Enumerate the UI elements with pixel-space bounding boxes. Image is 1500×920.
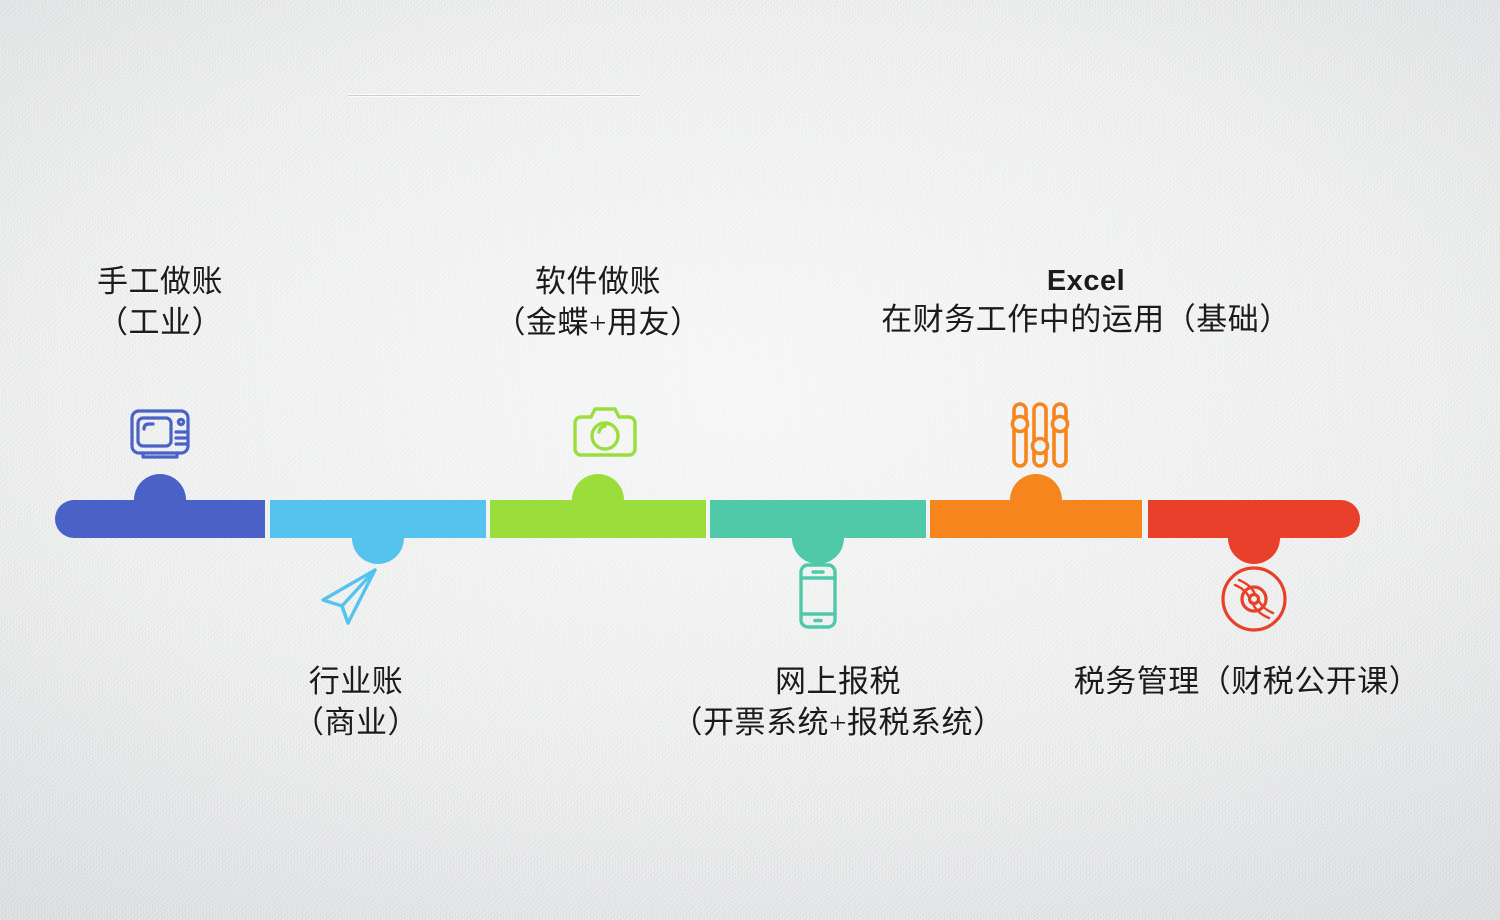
label-line-latin: Excel	[836, 262, 1336, 300]
segment-body	[930, 500, 1142, 538]
label-line: 行业账	[248, 662, 464, 703]
label-line: （开票系统+报税系统）	[648, 703, 1028, 744]
label-line: （工业）	[30, 303, 290, 344]
label-line: 手工做账	[30, 262, 290, 303]
segment-node-bump	[134, 474, 186, 500]
segment-body	[490, 500, 706, 538]
camera-icon	[566, 396, 644, 474]
label-excel-in-finance: Excel 在财务工作中的运用（基础）	[836, 262, 1336, 341]
label-line: （金蝶+用友）	[460, 303, 736, 344]
timeline-segment-manual-bookkeeping[interactable]	[55, 500, 265, 538]
timeline-segment-software-bookkeeping[interactable]	[490, 500, 706, 538]
timeline-segment-industry-ledger[interactable]	[270, 500, 486, 538]
segment-body	[55, 500, 265, 538]
label-software-bookkeeping: 软件做账 （金蝶+用友）	[460, 262, 736, 344]
tv-icon	[121, 396, 199, 474]
label-line: （商业）	[248, 703, 464, 744]
timeline-segment-tax-management[interactable]	[1148, 500, 1360, 538]
vinyl-disc-icon	[1215, 560, 1293, 638]
paper-plane-icon	[311, 557, 389, 635]
segment-body	[710, 500, 926, 538]
segment-node-bump	[572, 474, 624, 500]
label-line: 在财务工作中的运用（基础）	[836, 300, 1336, 341]
label-line: 税务管理（财税公开课）	[1034, 662, 1460, 703]
slide-canvas: 手工做账 （工业） 行业账 （商业）	[0, 0, 1500, 920]
segment-body	[1148, 500, 1360, 538]
segment-body	[270, 500, 486, 538]
label-line: 网上报税	[648, 662, 1028, 703]
label-manual-bookkeeping: 手工做账 （工业）	[30, 262, 290, 344]
label-line: 软件做账	[460, 262, 736, 303]
sliders-icon	[1001, 398, 1079, 476]
timeline-segment-excel-in-finance[interactable]	[930, 500, 1142, 538]
label-tax-management: 税务管理（财税公开课）	[1034, 662, 1460, 703]
timeline-bar: 手工做账 （工业） 行业账 （商业）	[0, 0, 1500, 920]
label-online-tax-filing: 网上报税 （开票系统+报税系统）	[648, 662, 1028, 744]
timeline-segment-online-tax-filing[interactable]	[710, 500, 926, 538]
label-industry-ledger: 行业账 （商业）	[248, 662, 464, 744]
segment-node-bump	[1010, 474, 1062, 500]
smartphone-icon	[779, 557, 857, 635]
